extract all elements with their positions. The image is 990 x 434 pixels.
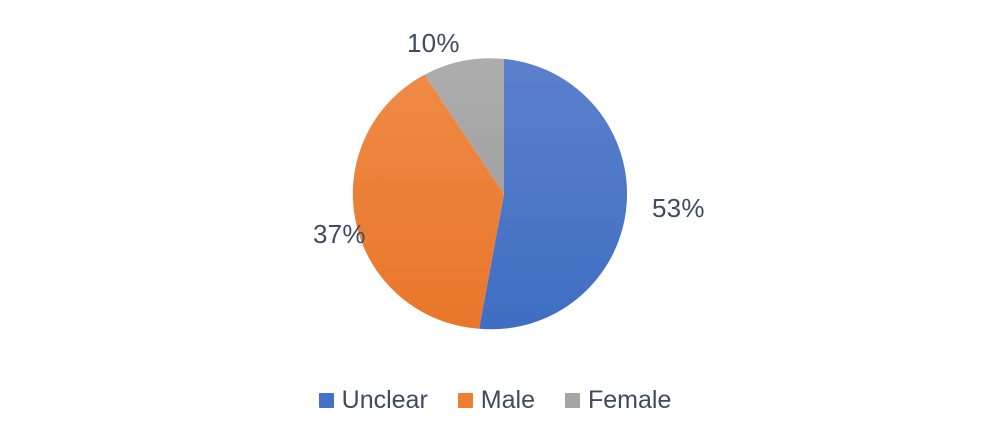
legend-label-unclear: Unclear: [342, 388, 428, 413]
legend-item-unclear[interactable]: Unclear: [319, 388, 428, 413]
chart-legend: Unclear Male Female: [0, 388, 990, 413]
legend-swatch-male-icon: [458, 393, 473, 408]
data-label-unclear: 53%: [652, 195, 705, 221]
legend-label-female: Female: [588, 388, 671, 413]
pie-svg: [0, 0, 990, 380]
legend-item-female[interactable]: Female: [565, 388, 671, 413]
pie-chart-figure: 53% 37% 10% Unclear Male Female: [0, 0, 990, 434]
legend-label-male: Male: [481, 388, 535, 413]
legend-swatch-female-icon: [565, 393, 580, 408]
pie-plot-area: 53% 37% 10%: [0, 0, 990, 380]
legend-swatch-unclear-icon: [319, 393, 334, 408]
data-label-male: 37%: [313, 221, 366, 247]
legend-item-male[interactable]: Male: [458, 388, 535, 413]
data-label-female: 10%: [407, 30, 460, 56]
